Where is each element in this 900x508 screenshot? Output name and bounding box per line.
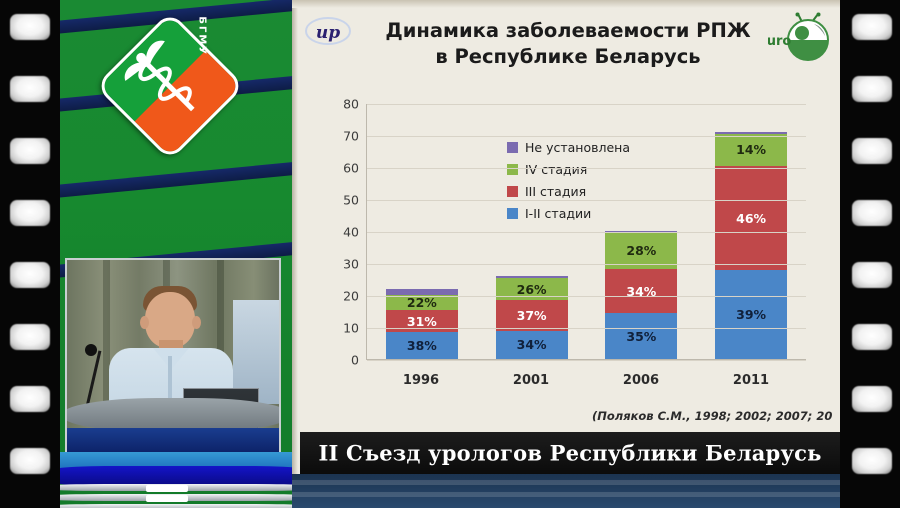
sprocket-hole xyxy=(10,324,50,350)
sprocket-hole xyxy=(852,14,892,40)
chart-gridline xyxy=(367,136,806,137)
sprocket-hole xyxy=(10,200,50,226)
chart-bar[interactable]: 14%46%39% xyxy=(715,132,787,359)
chart-y-tick-label: 20 xyxy=(343,289,359,304)
podium-top xyxy=(65,398,281,432)
chart-legend-item[interactable]: III стадия xyxy=(507,184,630,199)
legend-label: I-II стадии xyxy=(525,206,591,221)
chart-gridline xyxy=(367,328,806,329)
chart-bar-segment[interactable]: 37% xyxy=(496,300,568,331)
speaker-video-inset xyxy=(65,258,281,458)
presentation-slide: up uro Динамика заболеваемости РПЖ в Рес… xyxy=(292,0,840,508)
chart-bar-segment[interactable]: 46% xyxy=(715,166,787,271)
legend-swatch xyxy=(507,186,518,197)
slide-left-edge xyxy=(292,0,298,508)
chart-bar-segment[interactable]: 14% xyxy=(715,134,787,166)
event-banner: II Съезд урологов Республики Беларусь xyxy=(300,432,840,474)
legend-swatch xyxy=(507,142,518,153)
chart-y-tick-label: 50 xyxy=(343,193,359,208)
sprocket-hole xyxy=(10,14,50,40)
legend-label: Не установлена xyxy=(525,140,630,155)
stacked-bar-chart: 22%31%38%26%37%34%28%34%35%14%46%39% Не … xyxy=(318,96,818,392)
chart-x-tick-label: 2011 xyxy=(696,373,806,388)
chart-y-tick-label: 10 xyxy=(343,321,359,336)
legend-swatch xyxy=(507,164,518,175)
sprocket-hole xyxy=(852,324,892,350)
speaker-ear xyxy=(140,316,149,329)
chart-y-tick-label: 60 xyxy=(343,161,359,176)
chart-y-tick-label: 80 xyxy=(343,97,359,112)
slide-title-line2: в Республике Беларусь xyxy=(358,44,778,70)
sprocket-hole xyxy=(10,448,50,474)
chart-y-tick-label: 30 xyxy=(343,257,359,272)
chart-legend: Не установленаIV стадияIII стадияI-II ст… xyxy=(507,140,630,228)
chart-y-tick-label: 70 xyxy=(343,129,359,144)
chart-gridline xyxy=(367,200,806,201)
chart-gridline xyxy=(367,104,806,105)
sprocket-hole xyxy=(10,76,50,102)
chart-x-tick-label: 2006 xyxy=(586,373,696,388)
film-strip-left xyxy=(0,0,60,508)
legend-label: III стадия xyxy=(525,184,586,199)
sprocket-hole xyxy=(852,76,892,102)
chart-bar-segment[interactable]: 35% xyxy=(605,313,677,359)
chart-bar-segment[interactable]: 34% xyxy=(605,269,677,313)
film-strip-right xyxy=(840,0,900,508)
sprocket-hole xyxy=(10,138,50,164)
chart-plot-area: 22%31%38%26%37%34%28%34%35%14%46%39% Не … xyxy=(366,104,806,360)
sprocket-hole xyxy=(10,386,50,412)
chart-gridline xyxy=(367,168,806,169)
slide-top-edge xyxy=(292,0,840,8)
slide-title-line1: Динамика заболеваемости РПЖ xyxy=(358,18,778,44)
slide-title: Динамика заболеваемости РПЖ в Республике… xyxy=(358,18,778,69)
speaker-ear xyxy=(192,316,201,329)
video-frame: БГМУ xyxy=(0,0,900,508)
chart-bar-segment[interactable]: 39% xyxy=(715,270,787,359)
chart-gridline xyxy=(367,232,806,233)
chart-bar-segment[interactable]: 38% xyxy=(386,332,458,359)
sprocket-hole xyxy=(852,200,892,226)
up-logo-icon: up xyxy=(304,14,352,48)
chart-gridline xyxy=(367,264,806,265)
chart-gridline xyxy=(367,296,806,297)
chart-y-tick-label: 40 xyxy=(343,225,359,240)
sprocket-hole xyxy=(852,448,892,474)
sprocket-hole xyxy=(10,262,50,288)
chart-bar[interactable]: 22%31%38% xyxy=(386,289,458,359)
studio-desk xyxy=(60,452,292,508)
bottom-stripe xyxy=(292,480,840,485)
chart-x-tick-label: 2001 xyxy=(476,373,586,388)
chart-legend-item[interactable]: I-II стадии xyxy=(507,206,630,221)
slide-bottom-strip xyxy=(292,474,840,508)
desk-navy-band xyxy=(60,466,292,486)
microphone-head xyxy=(85,344,97,356)
desk-highlight xyxy=(146,485,188,492)
chart-bar[interactable]: 26%37%34% xyxy=(496,276,568,359)
desk-highlight xyxy=(146,495,188,502)
chart-x-axis-labels: 1996200120062011 xyxy=(366,373,806,388)
chart-bar-segment[interactable]: 22% xyxy=(386,295,458,310)
chart-bar-segment[interactable]: 34% xyxy=(496,331,568,359)
bottom-stripe xyxy=(292,492,840,497)
chart-gridline xyxy=(367,360,806,361)
chart-y-tick-label: 0 xyxy=(351,353,359,368)
emblem-letters: БГМУ xyxy=(197,16,208,56)
legend-label: IV стадия xyxy=(525,162,587,177)
source-citation: (Поляков С.М., 1998; 2002; 2007; 20 xyxy=(592,409,832,423)
conference-backdrop-panel: БГМУ xyxy=(60,0,292,508)
sprocket-hole xyxy=(852,138,892,164)
sprocket-hole xyxy=(852,386,892,412)
svg-text:up: up xyxy=(316,23,340,43)
legend-swatch xyxy=(507,208,518,219)
event-banner-text: II Съезд урологов Республики Беларусь xyxy=(300,441,840,466)
sprocket-hole xyxy=(852,262,892,288)
university-emblem: БГМУ xyxy=(106,22,228,144)
chart-legend-item[interactable]: IV стадия xyxy=(507,162,630,177)
chart-x-tick-label: 1996 xyxy=(366,373,476,388)
desk-silver-rail xyxy=(60,504,292,508)
chart-legend-item[interactable]: Не установлена xyxy=(507,140,630,155)
